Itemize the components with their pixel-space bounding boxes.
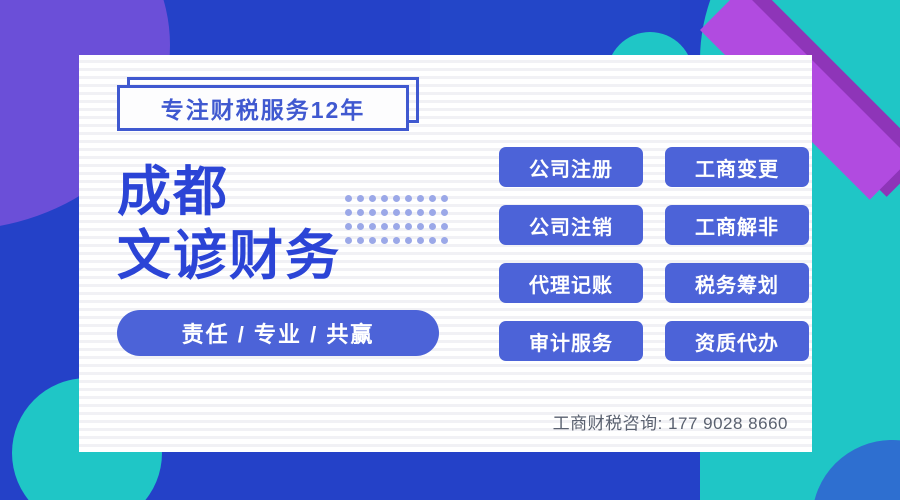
grid-dot (381, 195, 388, 202)
service-tag[interactable]: 公司注册 (499, 147, 643, 187)
service-tag[interactable]: 代理记账 (499, 263, 643, 303)
grid-dot (381, 223, 388, 230)
slogan-pill: 责任 / 专业 / 共赢 (117, 310, 439, 356)
contact-phone-line: 工商财税咨询: 177 9028 8660 (553, 409, 788, 434)
grid-dot (369, 237, 376, 244)
grid-dot (417, 237, 424, 244)
grid-dot (357, 195, 364, 202)
grid-dot (345, 237, 352, 244)
grid-dot (357, 209, 364, 216)
grid-dot (429, 209, 436, 216)
grid-dot (393, 223, 400, 230)
grid-dot (393, 209, 400, 216)
service-tag[interactable]: 资质代办 (665, 321, 809, 361)
grid-dot (345, 223, 352, 230)
dot-grid-decoration (345, 195, 453, 251)
service-tag[interactable]: 审计服务 (499, 321, 643, 361)
grid-dot (405, 237, 412, 244)
grid-dot (429, 195, 436, 202)
tagline-badge: 专注财税服务12年 (117, 85, 417, 137)
grid-dot (441, 209, 448, 216)
badge-outline-front: 专注财税服务12年 (117, 85, 409, 131)
grid-dot (393, 237, 400, 244)
service-tags-grid: 公司注册工商变更公司注销工商解非代理记账税务筹划审计服务资质代办 (499, 147, 809, 361)
service-tag[interactable]: 公司注销 (499, 205, 643, 245)
grid-dot (405, 223, 412, 230)
grid-dot (357, 237, 364, 244)
grid-dot (369, 209, 376, 216)
grid-dot (405, 209, 412, 216)
service-tag[interactable]: 税务筹划 (665, 263, 809, 303)
grid-dot (441, 237, 448, 244)
slogan-label: 责任 / 专业 / 共赢 (182, 317, 375, 349)
grid-dot (405, 195, 412, 202)
grid-dot (441, 195, 448, 202)
grid-dot (381, 209, 388, 216)
grid-dot (417, 223, 424, 230)
grid-dot (417, 195, 424, 202)
badge-label: 专注财税服务12年 (161, 91, 366, 125)
grid-dot (429, 223, 436, 230)
grid-dot (345, 209, 352, 216)
grid-dot (369, 195, 376, 202)
grid-dot (357, 223, 364, 230)
grid-dot (381, 237, 388, 244)
grid-dot (429, 237, 436, 244)
service-tag[interactable]: 工商变更 (665, 147, 809, 187)
content-card: 专注财税服务12年 成都 文谚财务 责任 / 专业 / 共赢 公司注册工商变更公… (79, 55, 812, 452)
grid-dot (417, 209, 424, 216)
banner-canvas: 专注财税服务12年 成都 文谚财务 责任 / 专业 / 共赢 公司注册工商变更公… (0, 0, 900, 500)
grid-dot (345, 195, 352, 202)
grid-dot (441, 223, 448, 230)
service-tag[interactable]: 工商解非 (665, 205, 809, 245)
grid-dot (369, 223, 376, 230)
grid-dot (393, 195, 400, 202)
